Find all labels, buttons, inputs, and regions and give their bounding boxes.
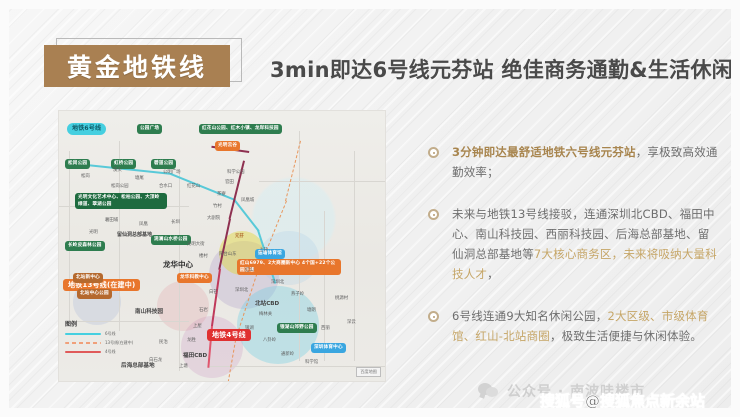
- bullet-rest: ，极致生活便捷与休闲体验。: [550, 329, 702, 343]
- metro-map-image: 龙华中心 北站CBD 福田CBD 南山科技园 后海总部基地 留仙洞总部基地 地铁…: [58, 110, 386, 382]
- map-station-name: 楼村: [199, 253, 208, 259]
- bullet-item: 3分钟即达最舒适地铁六号线元芬站，享极致高效通勤效率；: [428, 142, 718, 182]
- map-station-name: 桃源村: [335, 295, 348, 301]
- bullet-text: 3分钟即达最舒适地铁六号线元芬站，享极致高效通勤效率；: [452, 142, 718, 182]
- map-station-name: 民治: [159, 339, 168, 345]
- bullet-item: 未来与地铁13号线接驳，连通深圳北CBD、福田中心、南山科技园、西丽科技园、后海…: [428, 204, 718, 284]
- map-station-name: 松岗公园: [111, 183, 129, 189]
- map-station-name: 元芬: [235, 233, 244, 239]
- map-station-name: 阳台山东: [219, 251, 237, 257]
- map-tag-park: 光明文化艺术中心、松柏公园、大顶岭绿道、翠湖公园: [75, 193, 167, 209]
- legend-label: 13号线(在建中): [105, 340, 133, 346]
- page-headline: 3min即达6号线元芬站 绝佳商务通勤&生活休闲线: [270, 54, 720, 84]
- map-station-name: 白石龙: [149, 357, 162, 363]
- map-station-name: 光明大街: [187, 241, 205, 247]
- map-station-name: 深云: [347, 319, 356, 325]
- map-tag-orange: 光明云谷: [215, 141, 240, 151]
- bullet-lead: 6号线连通9大知名休闲公园，: [452, 309, 607, 323]
- legend-swatch-line13: [65, 342, 101, 345]
- map-station-name: 塘朗: [307, 307, 316, 313]
- feature-bullet-list: 3分钟即达最舒适地铁六号线元芬站，享极致高效通勤效率； 未来与地铁13号线接驳，…: [428, 142, 718, 368]
- map-station-name: 科学公园: [227, 169, 245, 175]
- map-station-name: 上塘: [179, 363, 188, 369]
- map-station-name: 凤凰: [139, 221, 148, 227]
- map-station-name: 石岩: [199, 307, 208, 313]
- map-station-name: 松岗: [81, 173, 90, 179]
- legend-row: 13号线(在建中): [65, 340, 149, 346]
- map-station-name: 上芬: [259, 247, 268, 253]
- map-station-name: 科学馆: [305, 359, 318, 365]
- map-tag-brown: 北站新中心: [73, 273, 103, 283]
- map-road: [354, 151, 355, 361]
- map-station-name: 光明: [89, 229, 98, 235]
- map-road: [179, 171, 180, 371]
- badge-label: 黄金地铁线: [67, 48, 207, 84]
- legend-row: 4号线: [65, 349, 149, 355]
- map-station-name: 公明广场: [163, 169, 181, 175]
- map-station-name: 官田: [225, 179, 234, 185]
- page-edge-left: [0, 0, 9, 417]
- map-station-name: 溪头: [113, 167, 122, 173]
- bullet-dot-icon: [428, 209, 439, 220]
- legend-label: 4号线: [105, 349, 116, 355]
- map-tag-park: 红花山公园、红木小镇、龙岸科技园: [199, 124, 282, 134]
- map-place-liuxiandong-base: 留仙洞总部基地: [117, 231, 152, 238]
- map-station-name: 合水口: [159, 183, 172, 189]
- bullet-text: 6号线连通9大知名休闲公园，2大区级、市级体育馆、红山-北站商圈，极致生活便捷与…: [452, 306, 718, 346]
- page-edge-bottom: [0, 408, 740, 417]
- map-station-name: 白芒: [209, 289, 218, 295]
- map-tag-park: 松岗公园: [65, 159, 90, 169]
- map-road: [69, 151, 70, 321]
- map-station-name: 梅林关: [259, 311, 272, 317]
- map-credit-badge: 百度地图: [356, 367, 381, 377]
- map-station-name: 红花山: [187, 183, 200, 189]
- map-road: [259, 181, 386, 182]
- map-station-name: 燕子岭: [291, 291, 304, 297]
- map-station-name: 通新岭: [281, 351, 294, 357]
- map-station-name: 茶寮: [217, 191, 226, 197]
- map-station-name: 西丽: [321, 325, 330, 331]
- map-place-futian-cbd: 福田CBD: [183, 351, 207, 359]
- wechat-icon: [478, 383, 500, 399]
- map-station-name: 龙胜: [187, 337, 196, 343]
- page-edge-right: [731, 0, 740, 417]
- bullet-dot-icon: [428, 311, 439, 322]
- map-place-longhua: 龙华中心: [163, 259, 193, 270]
- bullet-text: 未来与地铁13号线接驳，连通深圳北CBD、福田中心、南山科技园、西丽科技园、后海…: [452, 204, 718, 284]
- bullet-item: 6号线连通9大知名休闲公园，2大区级、市级体育馆、红山-北站商圈，极致生活便捷与…: [428, 306, 718, 346]
- map-tag-park: 观澜山水桥公园: [151, 235, 191, 245]
- map-tag-line6: 地铁6号线: [67, 123, 106, 135]
- map-station-name: 深圳北: [235, 287, 248, 293]
- map-place-beizhan-cbd: 北站CBD: [255, 299, 279, 307]
- legend-swatch-line4: [65, 351, 101, 354]
- map-station-name: 长圳: [171, 219, 180, 225]
- map-station-name: 凤凰城: [241, 197, 254, 203]
- legend-swatch-line6: [65, 333, 101, 336]
- map-station-name: 竹村: [213, 203, 222, 209]
- map-tag-park: 碧道公园: [151, 159, 176, 169]
- map-station-name: 八卦岭: [263, 337, 276, 343]
- map-station-name: 上屋: [193, 323, 202, 329]
- legend-row: 6号线: [65, 331, 149, 337]
- bullet-dot-icon: [428, 147, 439, 158]
- bullet-emphasis: 3分钟即达最舒适地铁六号线元芬站: [452, 145, 636, 159]
- map-tag-brown: 北站中心公园: [77, 289, 112, 299]
- map-station-name: 深圳北: [271, 279, 284, 285]
- legend-title: 图例: [65, 319, 149, 328]
- map-tag-orange: 龙华科教中心: [177, 273, 212, 283]
- page-edge-top: [0, 0, 740, 9]
- slide-canvas: 黄金地铁线 3min即达6号线元芬站 绝佳商务通勤&生活休闲线 3分钟即达最舒适…: [0, 0, 740, 417]
- map-station-name: 大剧院: [207, 215, 220, 221]
- map-station-name: 薯田埔: [105, 217, 118, 223]
- map-station-name: 银湖: [245, 325, 254, 331]
- map-tag-park: 长岭皮森林公园: [65, 241, 105, 251]
- map-place-nanshan-park: 南山科技园: [135, 307, 163, 315]
- map-road: [324, 211, 325, 361]
- map-tag-park: 公园广场: [137, 124, 162, 134]
- map-station-name: 红山: [245, 267, 254, 273]
- map-tag-blue: 深圳体育中心: [311, 343, 346, 353]
- badge-fill: 黄金地铁线: [44, 45, 230, 87]
- map-legend: 图例 6号线 13号线(在建中) 4号线: [65, 319, 149, 358]
- legend-label: 6号线: [105, 331, 116, 337]
- map-tag-park: 银湖山郊野公园: [277, 323, 317, 333]
- map-station-name: 塘尾: [135, 175, 144, 181]
- section-title-badge: 黄金地铁线: [44, 38, 249, 88]
- bullet-rest: ，: [487, 267, 499, 281]
